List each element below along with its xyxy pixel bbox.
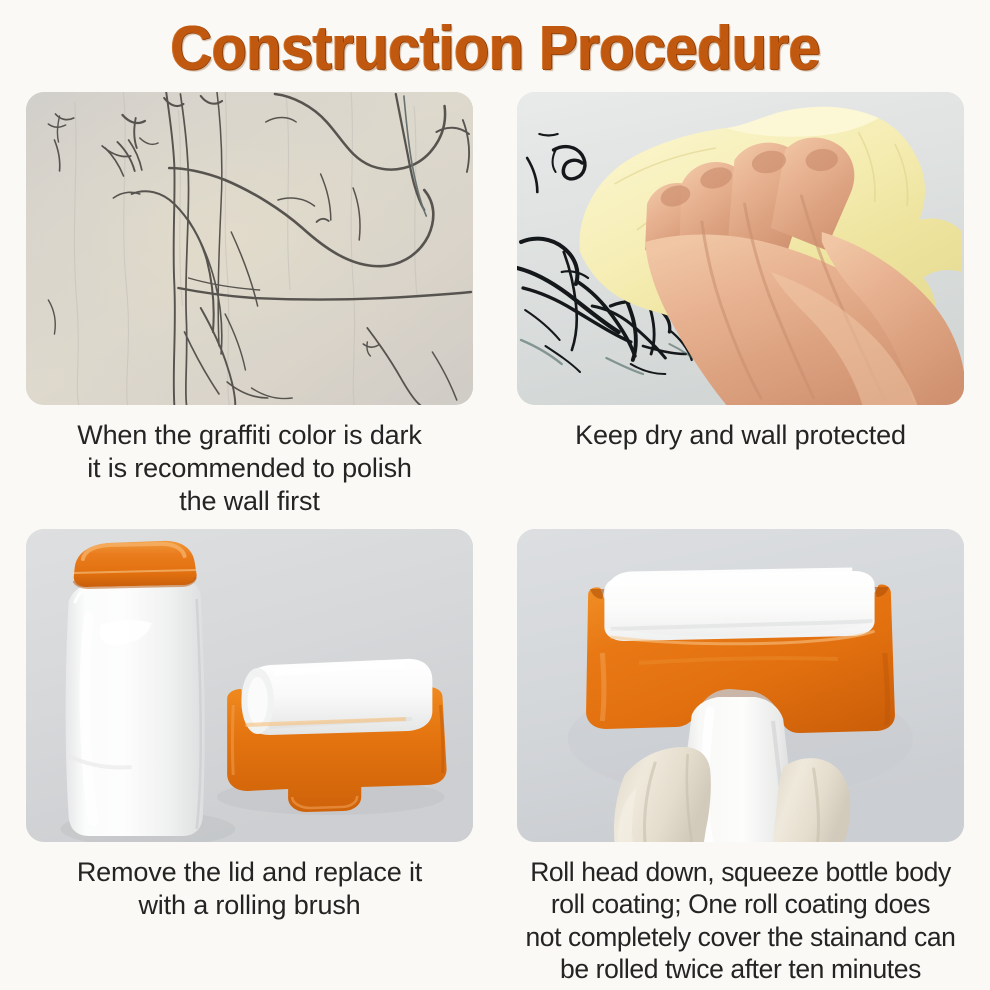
step-card-2: Keep dry and wall protected: [517, 92, 964, 523]
procedure-grid: When the graffiti color is dark it is re…: [0, 92, 990, 985]
step-card-4: Roll head down, squeeze bottle body roll…: [517, 529, 964, 985]
page-title: Construction Procedure: [170, 13, 820, 84]
step-caption-1: When the graffiti color is dark it is re…: [26, 419, 473, 523]
step-caption-2: Keep dry and wall protected: [517, 419, 964, 523]
step-caption-3: Remove the lid and replace it with a rol…: [26, 856, 473, 922]
graffiti-dark-wall-photo: [26, 92, 473, 405]
title-bar: Construction Procedure: [0, 0, 990, 92]
step-caption-4: Roll head down, squeeze bottle body roll…: [517, 856, 964, 985]
bottle-and-roller-brush-photo: [26, 529, 473, 842]
step-card-1: When the graffiti color is dark it is re…: [26, 92, 473, 523]
step-card-3: Remove the lid and replace it with a rol…: [26, 529, 473, 985]
wiping-wall-with-cloth-photo: [517, 92, 964, 405]
roll-head-down-photo: [517, 529, 964, 842]
